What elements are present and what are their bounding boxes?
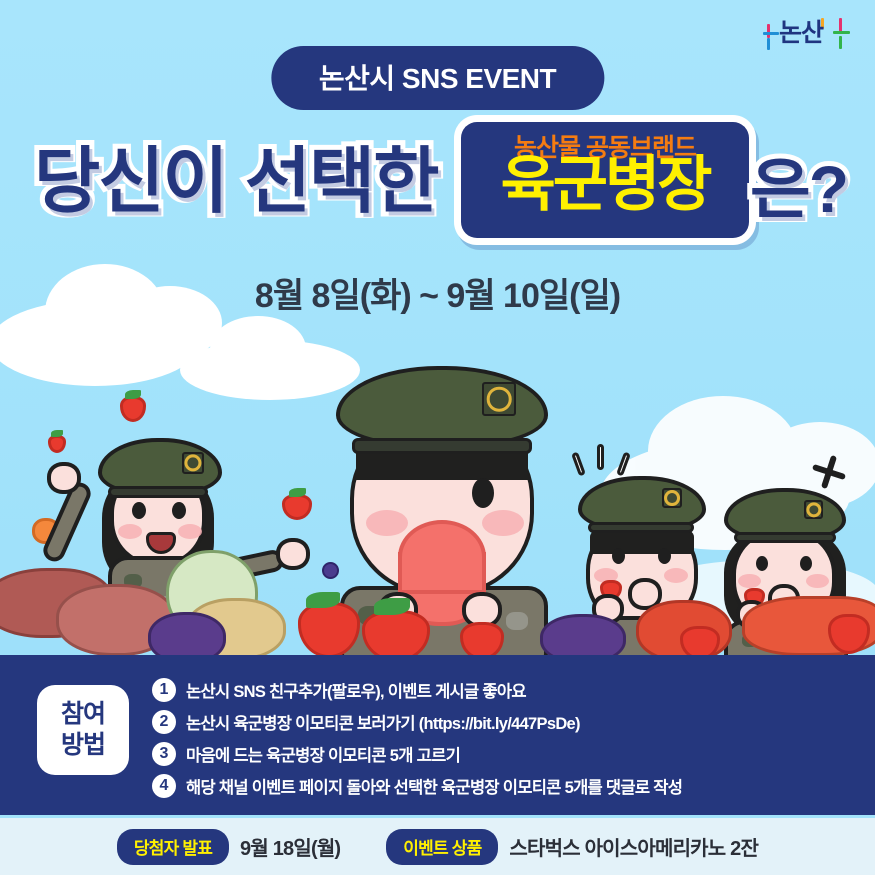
headline-block: 당신이 선택한 농산물 공동브랜드 육군병장 은?: [0, 126, 875, 246]
step-text: 마음에 드는 육군병장 이모티콘 5개 고르기: [186, 742, 460, 766]
step-text: 논산시 SNS 친구추가(팔로우), 이벤트 게시글 좋아요: [186, 678, 526, 702]
winner-announcement-value: 9월 18일(월): [240, 832, 340, 861]
list-item: 4 해당 채널 이벤트 페이지 돌아와 선택한 육군병장 이모티콘 5개를 댓글…: [152, 773, 732, 799]
participation-badge: 참여 방법: [37, 685, 129, 775]
footer-bar: 당첨자 발표 9월 18일(월) 이벤트 상품 스타벅스 아이스아메리카노 2잔: [0, 818, 875, 875]
brand-name: 육군병장: [461, 154, 749, 216]
headline-tail-text: 은?: [750, 156, 847, 222]
sparkle-decoration: [597, 444, 604, 470]
list-item: 3 마음에 드는 육군병장 이모티콘 5개 고르기: [152, 741, 732, 767]
sparkle-decoration: [812, 455, 846, 489]
step-text: 해당 채널 이벤트 페이지 돌아와 선택한 육군병장 이모티콘 5개를 댓글로 …: [186, 774, 682, 798]
prize-label: 이벤트 상품: [386, 829, 498, 865]
event-title-pill: 논산시 SNS EVENT: [271, 46, 604, 110]
event-poster: 논산 논산시 SNS EVENT 당신이 선택한 농산물 공동브랜드 육군병장 …: [0, 0, 875, 875]
prize-value: 스타벅스 아이스아메리카노 2잔: [509, 832, 758, 861]
participation-steps: 1 논산시 SNS 친구추가(팔로우), 이벤트 게시글 좋아요 2 논산시 육…: [152, 677, 732, 805]
logo-text: 논산: [779, 21, 823, 46]
list-item: 2 논산시 육군병장 이모티콘 보러가기 (https://bit.ly/447…: [152, 709, 732, 735]
participation-badge-line1: 참여: [61, 699, 105, 730]
produce-strip: [0, 540, 875, 660]
list-item: 1 논산시 SNS 친구추가(팔로우), 이벤트 게시글 좋아요: [152, 677, 732, 703]
winner-announcement-label: 당첨자 발표: [117, 829, 229, 865]
brand-highlight-box: 농산물 공동브랜드 육군병장: [461, 122, 749, 238]
step-number: 1: [152, 678, 176, 702]
winner-announcement-group: 당첨자 발표 9월 18일(월): [117, 829, 340, 865]
sparkle-decoration: [571, 452, 586, 477]
step-number: 2: [152, 710, 176, 734]
cloud-decoration: [180, 340, 360, 400]
headline-main-text: 당신이 선택한: [34, 146, 437, 218]
step-number: 4: [152, 774, 176, 798]
step-number: 3: [152, 742, 176, 766]
event-date-range: 8월 8일(화) ~ 9월 10일(일): [0, 268, 875, 317]
prize-group: 이벤트 상품 스타벅스 아이스아메리카노 2잔: [386, 829, 758, 865]
participation-badge-line2: 방법: [61, 730, 105, 761]
step-text[interactable]: 논산시 육군병장 이모티콘 보러가기 (https://bit.ly/447Ps…: [186, 710, 580, 734]
nonsan-city-logo: 논산: [761, 12, 853, 58]
participation-panel: 참여 방법 1 논산시 SNS 친구추가(팔로우), 이벤트 게시글 좋아요 2…: [0, 655, 875, 815]
